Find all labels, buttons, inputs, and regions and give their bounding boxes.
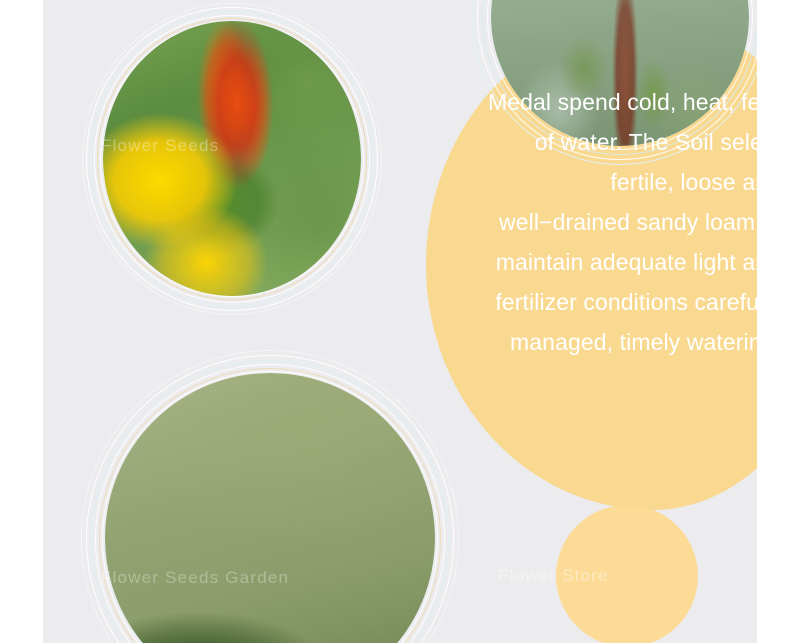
striped-gazania-bloom-photo — [105, 373, 435, 643]
care-instructions-text: Medal spend cold, heat, fear of water. T… — [473, 82, 757, 362]
yellow-accent-circle — [556, 505, 698, 643]
orange-gazania-bud-photo — [103, 21, 361, 296]
detail-page-stage: Flower Seeds Flower Seeds Garden Flower … — [0, 0, 800, 643]
orange-gazania-bud-image — [103, 21, 361, 296]
page-margin-right — [757, 0, 800, 643]
page-margin-left — [0, 0, 43, 643]
striped-gazania-bloom-image — [105, 373, 435, 643]
background-panel: Flower Seeds Flower Seeds Garden Flower … — [43, 0, 757, 643]
